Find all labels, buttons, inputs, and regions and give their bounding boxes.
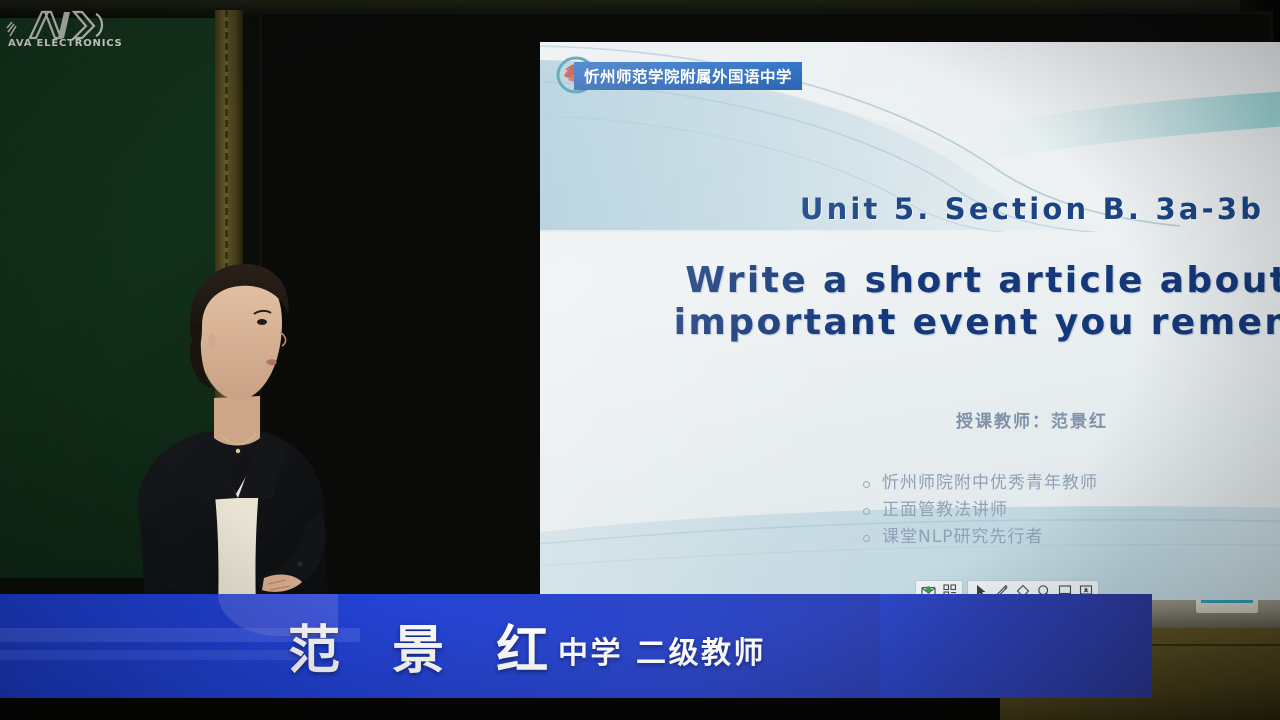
video-frame: 忻州师范学院附属外国语中学 Unit 5. Section B. 3a-3b W… (0, 0, 1280, 720)
slide-credentials-list: 忻州师院附中优秀青年教师 正面管教法讲师 课堂NLP研究先行者 (860, 470, 1280, 551)
teacher-presenter (86, 248, 386, 610)
watermark-brand-text: AVA ELECTRONICS (8, 38, 123, 49)
slide-unit-line: Unit 5. Section B. 3a-3b (540, 192, 1280, 226)
slide-title: Write a short article about the importan… (600, 260, 1280, 344)
slide-teacher-line: 授课教师：范景红 (540, 407, 1280, 432)
school-name-text: 忻州师范学院附属外国语中学 (584, 65, 792, 87)
presenter-role: 中学 二级教师 (558, 628, 766, 672)
projector-screen-bezel: 忻州师范学院附属外国语中学 Unit 5. Section B. 3a-3b W… (262, 14, 1270, 596)
lower-third-rounded-cap (880, 594, 1152, 698)
list-item: 课堂NLP研究先行者 (860, 524, 1280, 551)
presentation-slide[interactable]: 忻州师范学院附属外国语中学 Unit 5. Section B. 3a-3b W… (540, 42, 1280, 600)
list-item: 忻州师院附中优秀青年教师 (860, 470, 1280, 497)
list-item: 正面管教法讲师 (860, 497, 1280, 524)
school-name-banner: 忻州师范学院附属外国语中学 (574, 62, 802, 90)
lower-third-streak (0, 650, 300, 660)
presenter-name: 范 景 红 (288, 608, 565, 683)
